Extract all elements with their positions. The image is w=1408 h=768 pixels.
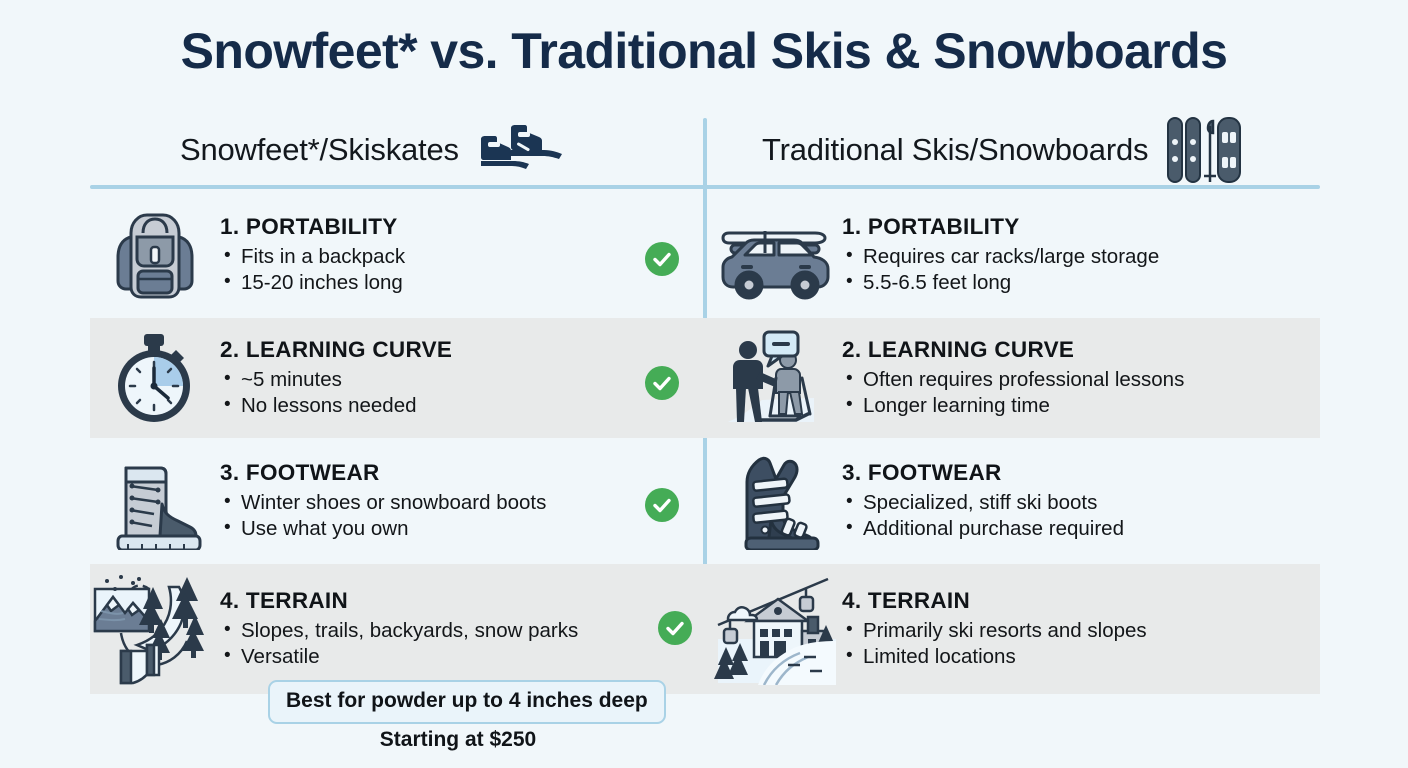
feature-title: 4. TERRAIN	[842, 588, 1312, 614]
bullet-item: 15-20 inches long	[220, 270, 695, 297]
bullet-item: Limited locations	[842, 644, 1312, 671]
row-cell-left-body: 4. TERRAIN Slopes, trails, backyards, sn…	[220, 588, 703, 671]
column-header-left: Snowfeet*/Skiskates	[180, 120, 567, 180]
stopwatch-icon	[90, 318, 220, 438]
bullet-item: Requires car racks/large storage	[842, 244, 1312, 271]
row-cell-left: 2. LEARNING CURVE ~5 minutes No lessons …	[90, 318, 703, 438]
ski-boot-icon	[712, 442, 842, 560]
bullet-item: ~5 minutes	[220, 367, 695, 394]
page-title: Snowfeet* vs. Traditional Skis & Snowboa…	[0, 22, 1408, 80]
row-cell-left-body: 1. PORTABILITY Fits in a backpack 15-20 …	[220, 214, 703, 297]
row-cell-left: 3. FOOTWEAR Winter shoes or snowboard bo…	[90, 442, 703, 560]
column-header-left-label: Snowfeet*/Skiskates	[180, 132, 459, 168]
column-header-right-label: Traditional Skis/Snowboards	[762, 132, 1148, 168]
bullet-item: Fits in a backpack	[220, 244, 695, 271]
ski-resort-lodge-gondola-icon	[712, 564, 842, 694]
row-cell-right-body: 2. LEARNING CURVE Often requires profess…	[842, 337, 1320, 420]
feature-bullets: Winter shoes or snowboard boots Use what…	[220, 490, 695, 543]
row-cell-left: 4. TERRAIN Slopes, trails, backyards, sn…	[90, 564, 703, 694]
car-with-ski-rack-icon	[712, 196, 842, 314]
table-row: 2. LEARNING CURVE ~5 minutes No lessons …	[90, 318, 1320, 438]
ski-instructor-icon	[712, 318, 842, 438]
skiskates-icon	[475, 122, 567, 178]
check-icon	[645, 242, 679, 276]
feature-title: 1. PORTABILITY	[220, 214, 695, 240]
bullet-item: Primarily ski resorts and slopes	[842, 618, 1312, 645]
bullet-item: Winter shoes or snowboard boots	[220, 490, 695, 517]
feature-title: 3. FOOTWEAR	[842, 460, 1312, 486]
skis-snowboard-icon	[1164, 114, 1244, 186]
winter-boot-icon	[90, 442, 220, 560]
row-cell-right: 2. LEARNING CURVE Often requires profess…	[712, 318, 1320, 438]
bullet-item: Versatile	[220, 644, 695, 671]
feature-bullets: Often requires professional lessons Long…	[842, 367, 1312, 420]
bullet-item: Longer learning time	[842, 393, 1312, 420]
row-cell-right: 4. TERRAIN Primarily ski resorts and slo…	[712, 564, 1320, 694]
feature-bullets: Specialized, stiff ski boots Additional …	[842, 490, 1312, 543]
powder-depth-badge: Best for powder up to 4 inches deep	[268, 680, 666, 724]
bullet-item: Often requires professional lessons	[842, 367, 1312, 394]
bullet-item: Specialized, stiff ski boots	[842, 490, 1312, 517]
feature-title: 1. PORTABILITY	[842, 214, 1312, 240]
feature-bullets: ~5 minutes No lessons needed	[220, 367, 695, 420]
bullet-item: Additional purchase required	[842, 516, 1312, 543]
mountain-trail-snowpark-icon	[90, 564, 220, 694]
feature-title: 3. FOOTWEAR	[220, 460, 695, 486]
row-cell-right: 1. PORTABILITY Requires car racks/large …	[712, 196, 1320, 314]
check-icon	[645, 366, 679, 400]
feature-bullets: Fits in a backpack 15-20 inches long	[220, 244, 695, 297]
row-cell-left: 1. PORTABILITY Fits in a backpack 15-20 …	[90, 196, 703, 314]
row-cell-right: 3. FOOTWEAR Specialized, stiff ski boots…	[712, 442, 1320, 560]
feature-title: 2. LEARNING CURVE	[842, 337, 1312, 363]
row-cell-left-body: 2. LEARNING CURVE ~5 minutes No lessons …	[220, 337, 703, 420]
check-icon	[645, 488, 679, 522]
bullet-item: No lessons needed	[220, 393, 695, 420]
row-cell-left-body: 3. FOOTWEAR Winter shoes or snowboard bo…	[220, 460, 703, 543]
check-icon	[658, 611, 692, 645]
feature-bullets: Requires car racks/large storage 5.5-6.5…	[842, 244, 1312, 297]
table-row: 4. TERRAIN Slopes, trails, backyards, sn…	[90, 564, 1320, 694]
feature-title: 2. LEARNING CURVE	[220, 337, 695, 363]
row-cell-right-body: 1. PORTABILITY Requires car racks/large …	[842, 214, 1320, 297]
table-row: 3. FOOTWEAR Winter shoes or snowboard bo…	[90, 442, 1320, 560]
row-cell-right-body: 4. TERRAIN Primarily ski resorts and slo…	[842, 588, 1320, 671]
infographic-root: Snowfeet* vs. Traditional Skis & Snowboa…	[0, 0, 1408, 768]
starting-price-label: Starting at $250	[0, 728, 916, 752]
bullet-item: Use what you own	[220, 516, 695, 543]
feature-bullets: Slopes, trails, backyards, snow parks Ve…	[220, 618, 695, 671]
backpack-icon	[90, 196, 220, 314]
row-cell-right-body: 3. FOOTWEAR Specialized, stiff ski boots…	[842, 460, 1320, 543]
bullet-item: Slopes, trails, backyards, snow parks	[220, 618, 695, 645]
feature-title: 4. TERRAIN	[220, 588, 695, 614]
column-header-right: Traditional Skis/Snowboards	[762, 120, 1244, 180]
table-row: 1. PORTABILITY Fits in a backpack 15-20 …	[90, 196, 1320, 314]
feature-bullets: Primarily ski resorts and slopes Limited…	[842, 618, 1312, 671]
bullet-item: 5.5-6.5 feet long	[842, 270, 1312, 297]
